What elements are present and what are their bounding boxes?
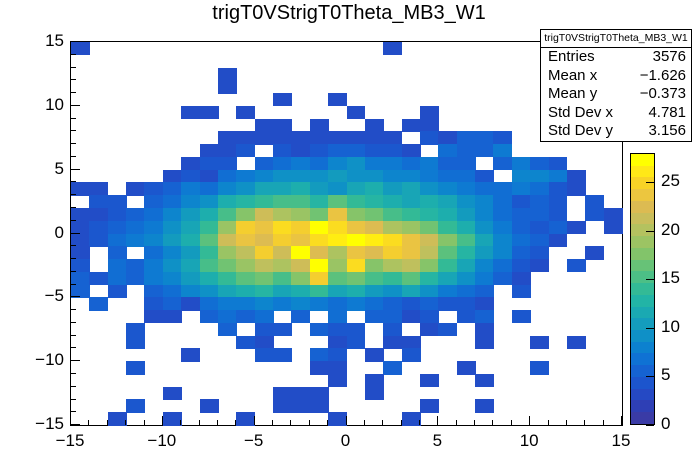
heatmap-bin [493,131,512,144]
heatmap-bin [126,259,145,272]
heatmap-bin [291,246,310,259]
heatmap-bin [310,399,329,412]
heatmap-bin [291,387,310,400]
heatmap-bin [493,221,512,234]
heatmap-bin [420,221,439,234]
heatmap-bin [347,285,366,298]
colorbar-cell [631,213,654,225]
heatmap-bin [236,144,255,157]
heatmap-bin [89,272,108,285]
heatmap-bin [144,208,163,221]
x-axis-tick [199,420,200,425]
heatmap-bin [383,221,402,234]
heatmap-bin [457,170,476,183]
x-axis-label: 15 [595,431,647,451]
heatmap-bin [402,182,421,195]
heatmap-bin [144,297,163,310]
heatmap-bin [163,182,182,195]
colorbar-cell [631,400,654,412]
y-axis-tick [71,271,76,272]
heatmap-bin [438,131,457,144]
heatmap-bin [255,297,274,310]
heatmap-bin [420,234,439,247]
colorbar-cell [631,177,654,189]
x-axis-tick [309,420,310,425]
heatmap-bin [475,374,494,387]
heatmap-bin [200,272,219,285]
heatmap-bin [163,246,182,259]
x-axis-label: −10 [136,431,188,451]
x-axis-tick [621,416,622,425]
heatmap-bin [438,246,457,259]
heatmap-bin [218,259,237,272]
heatmap-bin [383,234,402,247]
heatmap-bin [457,361,476,374]
heatmap-bin [200,208,219,221]
colorbar-tick [646,425,654,426]
colorbar-cell [631,271,654,283]
y-axis-tick [71,233,80,234]
heatmap-bin [493,208,512,221]
x-axis-tick [456,420,457,425]
heatmap-bin [402,348,421,361]
colorbar-cell [631,283,654,295]
heatmap-bin [512,221,531,234]
heatmap-bin [347,259,366,272]
heatmap-bin [383,259,402,272]
colorbar-tick [646,279,654,280]
heatmap-bin [163,272,182,285]
y-axis-tick [71,399,76,400]
x-axis-tick [584,420,585,425]
heatmap-bin [457,195,476,208]
heatmap-bin [200,182,219,195]
heatmap-bin [144,272,163,285]
heatmap-bin [181,170,200,183]
colorbar-cell [631,154,654,166]
heatmap-bin [236,221,255,234]
colorbar-cell [631,260,654,272]
heatmap-bin [567,170,586,183]
heatmap-bin [402,170,421,183]
heatmap-bin [291,131,310,144]
heatmap-bin [347,323,366,336]
heatmap-bin [438,297,457,310]
heatmap-bin [273,323,292,336]
heatmap-bin [402,336,421,349]
heatmap-bin [365,246,384,259]
heatmap-bin [255,348,274,361]
heatmap-bin [328,246,347,259]
heatmap-bin [200,297,219,310]
heatmap-bin [383,157,402,170]
heatmap-bin [328,195,347,208]
heatmap-bin [383,246,402,259]
heatmap-bin [89,297,108,310]
heatmap-bin [402,285,421,298]
heatmap-bin [200,285,219,298]
heatmap-bin [475,259,494,272]
colorbar-label: 10 [661,317,680,337]
heatmap-bin [365,387,384,400]
heatmap-bin [530,221,549,234]
heatmap-bin [585,195,604,208]
heatmap-bin [420,208,439,221]
heatmap-bin [255,323,274,336]
y-axis-tick [71,245,76,246]
heatmap-bin [181,234,200,247]
heatmap-bin [328,361,347,374]
heatmap-bin [273,246,292,259]
heatmap-bin [567,182,586,195]
heatmap-bin [402,412,421,425]
y-axis-tick [71,335,76,336]
heatmap-bin [383,272,402,285]
heatmap-bin [328,144,347,157]
heatmap-bin [420,170,439,183]
heatmap-bin [420,323,439,336]
heatmap-bin [420,285,439,298]
heatmap-bin [236,106,255,119]
heatmap-bin [273,157,292,170]
x-axis-label: 10 [503,431,555,451]
heatmap-bin [310,208,329,221]
heatmap-bin [200,246,219,259]
heatmap-bin [310,361,329,374]
colorbar-tick [646,376,654,377]
heatmap-bin [383,208,402,221]
heatmap-bin [420,374,439,387]
heatmap-bin [291,259,310,272]
heatmap-bin [126,361,145,374]
heatmap-bin [255,272,274,285]
heatmap-bin [200,221,219,234]
heatmap-bin [530,157,549,170]
x-axis-tick [125,420,126,425]
heatmap-bin [108,195,127,208]
heatmap-bin [438,157,457,170]
heatmap-bin [255,221,274,234]
heatmap-bin [218,182,237,195]
heatmap-bin [291,310,310,323]
heatmap-bin [328,221,347,234]
y-axis-tick [71,220,76,221]
statistic-value: 4.781 [648,104,686,123]
heatmap-bin [291,170,310,183]
heatmap-bin [457,131,476,144]
x-axis-label: −5 [228,431,280,451]
heatmap-bin [255,182,274,195]
heatmap-bin [163,285,182,298]
heatmap-bin [383,336,402,349]
heatmap-bin [347,131,366,144]
colorbar-cell [631,307,654,319]
x-axis-tick [88,420,89,425]
heatmap-bin [218,310,237,323]
y-axis-label: −5 [14,286,64,306]
heatmap-bin [347,297,366,310]
heatmap-bin [273,208,292,221]
heatmap-bin [163,387,182,400]
x-axis-label: −15 [44,431,96,451]
heatmap-bin [365,285,384,298]
y-axis-tick [71,360,80,361]
heatmap-bin [347,182,366,195]
heatmap-bin [530,170,549,183]
heatmap-bin [493,182,512,195]
heatmap-bin [328,348,347,361]
heatmap-bin [236,246,255,259]
heatmap-bin [457,246,476,259]
statistic-label: Mean y [548,85,597,104]
heatmap-bin [310,119,329,132]
heatmap-bin [475,182,494,195]
heatmap-bin [420,246,439,259]
y-axis-tick [71,322,76,323]
heatmap-bin [200,106,219,119]
y-axis-tick [71,207,76,208]
heatmap-bin [273,259,292,272]
heatmap-bin [475,285,494,298]
heatmap-bin [493,272,512,285]
heatmap-bin [438,221,457,234]
heatmap-bin [291,182,310,195]
statistic-row: Std Dev y3.156 [541,122,691,141]
statistic-value: 3.156 [648,122,686,141]
colorbar-cell [631,236,654,248]
heatmap-bin [200,259,219,272]
heatmap-bin [438,234,457,247]
heatmap-bin [273,93,292,106]
heatmap-bin [347,272,366,285]
heatmap-bin [347,106,366,119]
heatmap-bin [291,221,310,234]
heatmap-bin [457,234,476,247]
heatmap-bin [402,119,421,132]
heatmap-bin [438,272,457,285]
x-axis-tick [419,420,420,425]
colorbar-label: 20 [661,220,680,240]
heatmap-bin [163,234,182,247]
heatmap-bin [291,195,310,208]
heatmap-bin [328,310,347,323]
y-axis-tick [71,347,76,348]
x-axis-tick [437,416,438,425]
heatmap-bin [255,119,274,132]
heatmap-bin [291,144,310,157]
heatmap-bin [402,246,421,259]
heatmap-bin [512,272,531,285]
heatmap-bin [567,259,586,272]
heatmap-bin [89,221,108,234]
colorbar-cell [631,365,654,377]
statistic-row: Entries3576 [541,48,691,67]
colorbar-cell [631,412,654,424]
x-axis-tick [548,420,549,425]
heatmap-bin [438,259,457,272]
heatmap-bin [218,272,237,285]
page-title: trigT0VStrigT0Theta_MB3_W1 [0,2,698,25]
heatmap-bin [200,310,219,323]
heatmap-bin [328,131,347,144]
heatmap-bin [402,272,421,285]
heatmap-bin [328,170,347,183]
heatmap-bin [365,234,384,247]
heatmap-bin [475,131,494,144]
heatmap-bin [457,221,476,234]
heatmap-bin [549,170,568,183]
x-axis-tick [346,416,347,425]
heatmap-bin [181,182,200,195]
heatmap-bin [273,234,292,247]
heatmap-bin [493,157,512,170]
heatmap-bin [236,259,255,272]
heatmap-bin [218,208,237,221]
heatmap-bin [530,208,549,221]
statistic-value: −0.373 [640,85,686,104]
statistic-label: Std Dev x [548,104,613,123]
heatmap-bin [420,399,439,412]
heatmap-bin [144,246,163,259]
heatmap-bin [438,144,457,157]
heatmap-bin [310,387,329,400]
heatmap-bin [457,285,476,298]
heatmap-bin [218,246,237,259]
heatmap-bin [347,144,366,157]
y-axis-label: −10 [14,350,64,370]
heatmap-bin [144,234,163,247]
heatmap-bin [549,221,568,234]
heatmap-bin [365,208,384,221]
heatmap-bin [291,234,310,247]
x-axis-tick [290,420,291,425]
y-axis-label: 5 [14,159,64,179]
heatmap-bin [236,182,255,195]
x-axis-tick [382,420,383,425]
heatmap-bin [236,285,255,298]
heatmap-bin [236,412,255,425]
heatmap-bin [108,272,127,285]
heatmap-bin [567,336,586,349]
heatmap-bin [255,234,274,247]
heatmap-bin [89,234,108,247]
heatmap-bin [273,144,292,157]
heatmap-bin [181,348,200,361]
heatmap-bin [126,221,145,234]
heatmap-bin [530,246,549,259]
x-axis-tick [254,416,255,425]
x-axis-tick [364,420,365,425]
heatmap-bin [420,131,439,144]
heatmap-bin [236,272,255,285]
heatmap-bin [365,259,384,272]
heatmap-bin [200,144,219,157]
heatmap-bin [530,195,549,208]
x-axis-tick [474,420,475,425]
heatmap-bin [163,297,182,310]
heatmap-bin [310,297,329,310]
heatmap-bin [585,246,604,259]
y-axis-tick [71,156,76,157]
colorbar-cell [631,166,654,178]
heatmap-bin [255,195,274,208]
colorbar-label: 15 [661,268,680,288]
heatmap-bin [255,246,274,259]
heatmap-bin [365,119,384,132]
colorbar-cell [631,330,654,342]
heatmap-bin [181,195,200,208]
heatmap-bin [273,170,292,183]
heatmap-bin [291,399,310,412]
heatmap-bin [365,144,384,157]
heatmap-bin [273,348,292,361]
heatmap-bin [475,297,494,310]
heatmap-bin [365,221,384,234]
heatmap-bin [108,412,127,425]
heatmap-bin [310,259,329,272]
colorbar-cell [631,353,654,365]
heatmap-bin [255,131,274,144]
heatmap-bin [218,195,237,208]
heatmap-bin [328,272,347,285]
heatmap-bin [530,182,549,195]
heatmap-bin [273,131,292,144]
heatmap-bin [291,285,310,298]
heatmap-bin [420,182,439,195]
y-axis-tick [71,284,76,285]
y-axis-tick [71,194,76,195]
heatmap-bin [328,182,347,195]
heatmap-bin [236,170,255,183]
heatmap-bin [512,170,531,183]
statistics-rows: Entries3576Mean x−1.626Mean y−0.373Std D… [541,48,691,141]
heatmap-bin [475,246,494,259]
heatmap-bin [475,195,494,208]
heatmap-bin [310,285,329,298]
heatmap-bin [144,310,163,323]
heatmap-bin [255,310,274,323]
heatmap-bin [218,157,237,170]
y-axis-tick [71,67,76,68]
heatmap-bin [420,157,439,170]
x-axis-tick [327,420,328,425]
colorbar-label: 0 [661,414,670,434]
heatmap-bin [218,221,237,234]
x-axis-tick [107,420,108,425]
x-axis-label: 0 [320,431,372,451]
heatmap-bin [549,182,568,195]
heatmap-bin [457,310,476,323]
heatmap-bin [255,285,274,298]
heatmap-bin [236,336,255,349]
heatmap-bin [493,144,512,157]
heatmap-bin [457,297,476,310]
heatmap-bin [310,348,329,361]
heatmap-bin [457,208,476,221]
y-axis-label: 15 [14,31,64,51]
heatmap-bin [181,106,200,119]
statistic-row: Mean x−1.626 [541,67,691,86]
y-axis-tick [71,130,76,131]
heatmap-bin [347,234,366,247]
heatmap-bin [273,272,292,285]
heatmap-bin [475,272,494,285]
heatmap-bin [310,234,329,247]
heatmap-bin [512,208,531,221]
heatmap-bin [200,195,219,208]
heatmap-bin [126,182,145,195]
colorbar-tick [646,328,654,329]
